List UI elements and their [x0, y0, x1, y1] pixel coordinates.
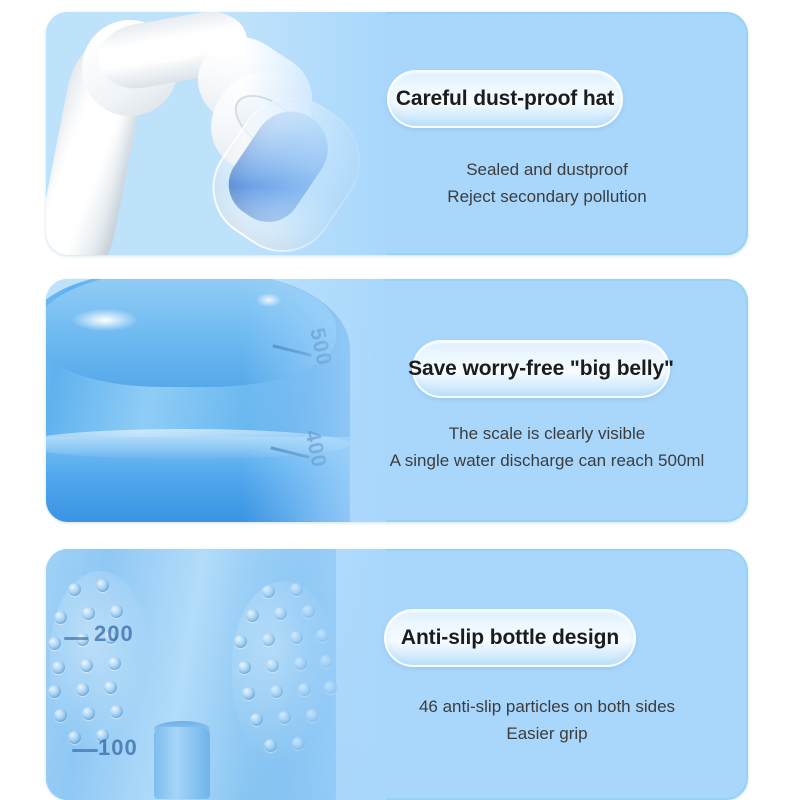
feature-panel-anti-slip-bottle: 200 100 Anti-slip bottle design 46 anti-… — [46, 549, 748, 800]
feature-panel-big-belly-capacity: 500 400 Save worry-free "big belly" The … — [46, 279, 748, 522]
feature-title-badge: Careful dust-proof hat — [387, 70, 623, 128]
bottle-spout — [154, 727, 210, 799]
bottle-shoulder — [46, 279, 336, 387]
description-line: The scale is clearly visible — [346, 420, 748, 447]
feature-title-badge: Anti-slip bottle design — [384, 609, 636, 667]
feature-title: Careful dust-proof hat — [396, 87, 614, 111]
scale-label-100: 100 — [98, 735, 138, 761]
scale-tick — [64, 637, 88, 640]
description-line: Sealed and dustproof — [346, 156, 748, 183]
feature-title: Anti-slip bottle design — [401, 626, 619, 650]
product-photo-anti-slip-grip: 200 100 — [46, 549, 386, 800]
photo-backdrop: 200 100 — [46, 549, 386, 800]
description-line: 46 anti-slip particles on both sides — [346, 693, 748, 720]
photo-backdrop: 500 400 — [46, 279, 386, 522]
feature-title: Save worry-free "big belly" — [408, 357, 674, 381]
feature-description: Sealed and dustproof Reject secondary po… — [346, 156, 748, 210]
feature-description: 46 anti-slip particles on both sides Eas… — [346, 693, 748, 747]
bottle-highlight — [72, 309, 138, 331]
description-line: A single water discharge can reach 500ml — [346, 447, 748, 474]
anti-slip-pad-left — [50, 571, 150, 751]
scale-label-200: 200 — [94, 621, 134, 647]
feature-content: Careful dust-proof hat Sealed and dustpr… — [346, 12, 748, 255]
feature-content: Save worry-free "big belly" The scale is… — [346, 279, 748, 522]
description-line: Easier grip — [346, 720, 748, 747]
bottle-highlight — [256, 293, 282, 307]
anti-slip-pad-right — [232, 581, 336, 763]
feature-panel-dust-proof-hat: Careful dust-proof hat Sealed and dustpr… — [46, 12, 748, 255]
product-photo-nozzle-with-dust-cap — [46, 12, 386, 255]
feature-description: The scale is clearly visible A single wa… — [346, 420, 748, 474]
photo-backdrop — [46, 12, 386, 255]
feature-content: Anti-slip bottle design 46 anti-slip par… — [346, 549, 748, 800]
product-photo-bottle-with-scale: 500 400 — [46, 279, 386, 522]
product-feature-infographic: Careful dust-proof hat Sealed and dustpr… — [0, 0, 800, 800]
feature-title-badge: Save worry-free "big belly" — [412, 340, 670, 398]
description-line: Reject secondary pollution — [346, 183, 748, 210]
scale-tick — [72, 749, 98, 752]
